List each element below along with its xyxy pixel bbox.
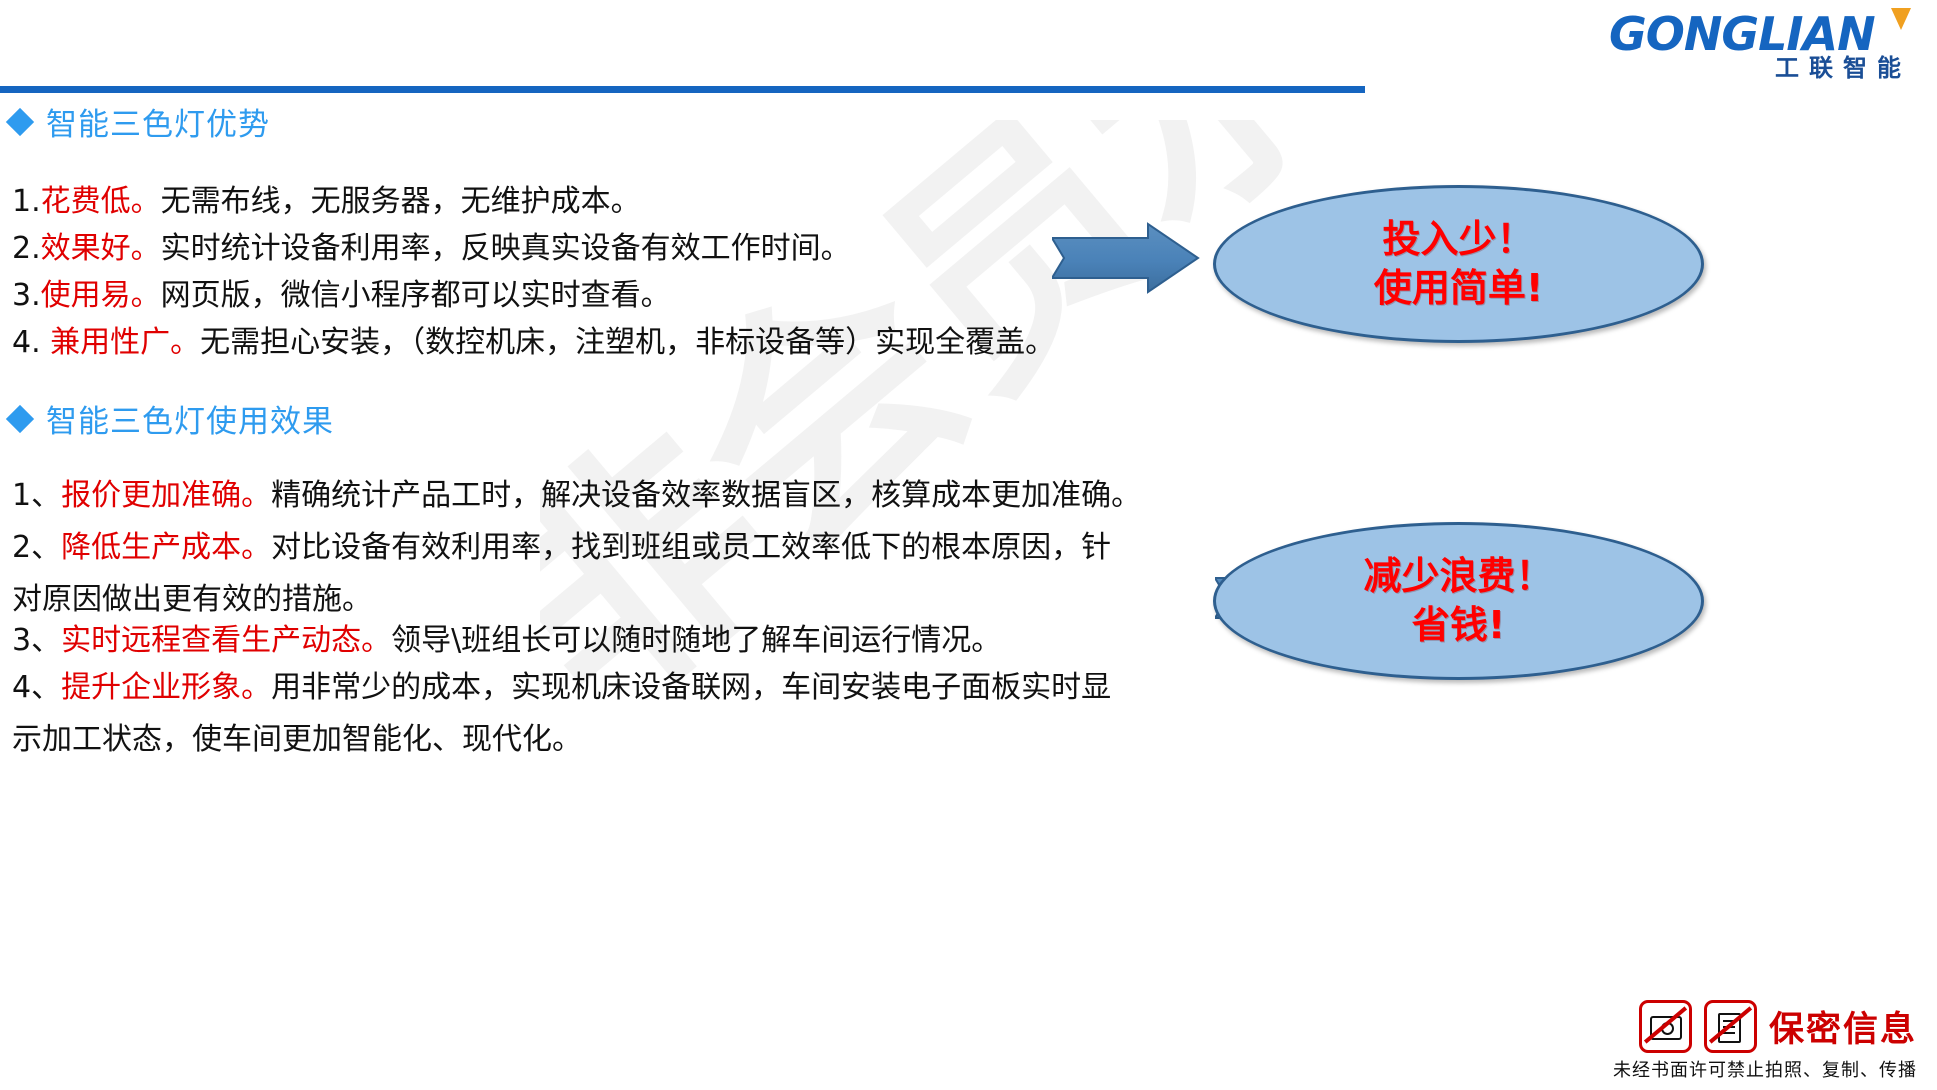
- list-item: 3、实时远程查看生产动态。领导\班组长可以随时随地了解车间运行情况。: [12, 615, 1001, 667]
- list-item: 2.效果好。实时统计设备利用率，反映真实设备有效工作时间。: [12, 225, 851, 272]
- right-arrow-icon-1: [1052, 222, 1200, 294]
- list-item: 1、报价更加准确。精确统计产品工时，解决设备效率数据盲区，核算成本更加准确。: [12, 470, 1141, 522]
- item-number: 1.: [12, 184, 41, 219]
- item-body: 精确统计产品工时，解决设备效率数据盲区，核算成本更加准确。: [271, 478, 1141, 513]
- item-body: 无需布线，无服务器，无维护成本。: [161, 184, 641, 219]
- list-item: 1.花费低。无需布线，无服务器，无维护成本。: [12, 178, 641, 225]
- item-body: 领导\班组长可以随时随地了解车间运行情况。: [391, 623, 1001, 658]
- no-photo-icon: [1639, 1000, 1692, 1053]
- item-highlight: 实时远程查看生产动态。: [61, 623, 391, 658]
- callout-ellipse-2: 减少浪费！ 省钱!: [1213, 522, 1704, 680]
- item-body: 实时统计设备利用率，反映真实设备有效工作时间。: [161, 231, 851, 266]
- callout-line-1: 投入少！: [1382, 215, 1534, 264]
- item-number: 3.: [12, 278, 41, 313]
- diamond-bullet-icon: [6, 107, 34, 135]
- item-body: 无需担心安装，（数控机床，注塑机，非标设备等）实现全覆盖。: [200, 325, 1055, 360]
- section-heading-advantages: 智能三色灯优势: [10, 99, 270, 144]
- callout-line-1: 减少浪费！: [1363, 552, 1553, 601]
- item-number: 1、: [12, 478, 61, 513]
- item-number: 2、: [12, 530, 61, 565]
- list-item: 4、提升企业形象。用非常少的成本，实现机床设备联网，车间安装电子面板实时显示加工…: [12, 662, 1117, 766]
- slide-canvas: 非会员水印 GONGLIAN 工联智能 智能三色灯优势 1.花费低。无需布线，无…: [0, 0, 1937, 1090]
- item-highlight: 效果好。: [41, 231, 161, 266]
- item-number: 2.: [12, 231, 41, 266]
- confidential-note: 未经书面许可禁止拍照、复制、传播: [1613, 1056, 1917, 1082]
- list-item: 2、降低生产成本。对比设备有效利用率，找到班组或员工效率低下的根本原因，针对原因…: [12, 522, 1117, 626]
- item-highlight: 兼用性广。: [50, 325, 200, 360]
- item-number: 3、: [12, 623, 61, 658]
- header-divider: [0, 86, 1365, 93]
- item-highlight: 使用易。: [41, 278, 161, 313]
- section-heading-effects: 智能三色灯使用效果: [10, 396, 334, 441]
- callout-ellipse-1: 投入少！ 使用简单!: [1213, 185, 1704, 343]
- item-highlight: 花费低。: [41, 184, 161, 219]
- section-title-text: 智能三色灯使用效果: [46, 396, 334, 441]
- item-highlight: 报价更加准确。: [61, 478, 271, 513]
- confidential-footer: 保密信息 未经书面许可禁止拍照、复制、传播: [1613, 1000, 1917, 1082]
- no-copy-icon: [1704, 1000, 1757, 1053]
- item-number: 4.: [12, 325, 50, 360]
- logo-subtitle: 工联智能: [1775, 48, 1911, 83]
- item-body: 网页版，微信小程序都可以实时查看。: [161, 278, 671, 313]
- logo-accent-triangle: [1891, 8, 1911, 30]
- callout-line-2: 省钱!: [1412, 601, 1505, 650]
- confidential-title: 保密信息: [1769, 1001, 1917, 1052]
- item-highlight: 降低生产成本。: [61, 530, 271, 565]
- list-item: 3.使用易。网页版，微信小程序都可以实时查看。: [12, 272, 671, 319]
- section-title-text: 智能三色灯优势: [46, 99, 270, 144]
- item-highlight: 提升企业形象。: [61, 670, 271, 705]
- diamond-bullet-icon: [6, 404, 34, 432]
- callout-line-2: 使用简单!: [1374, 264, 1543, 313]
- list-item: 4. 兼用性广。无需担心安装，（数控机床，注塑机，非标设备等）实现全覆盖。: [12, 319, 1055, 366]
- item-number: 4、: [12, 670, 61, 705]
